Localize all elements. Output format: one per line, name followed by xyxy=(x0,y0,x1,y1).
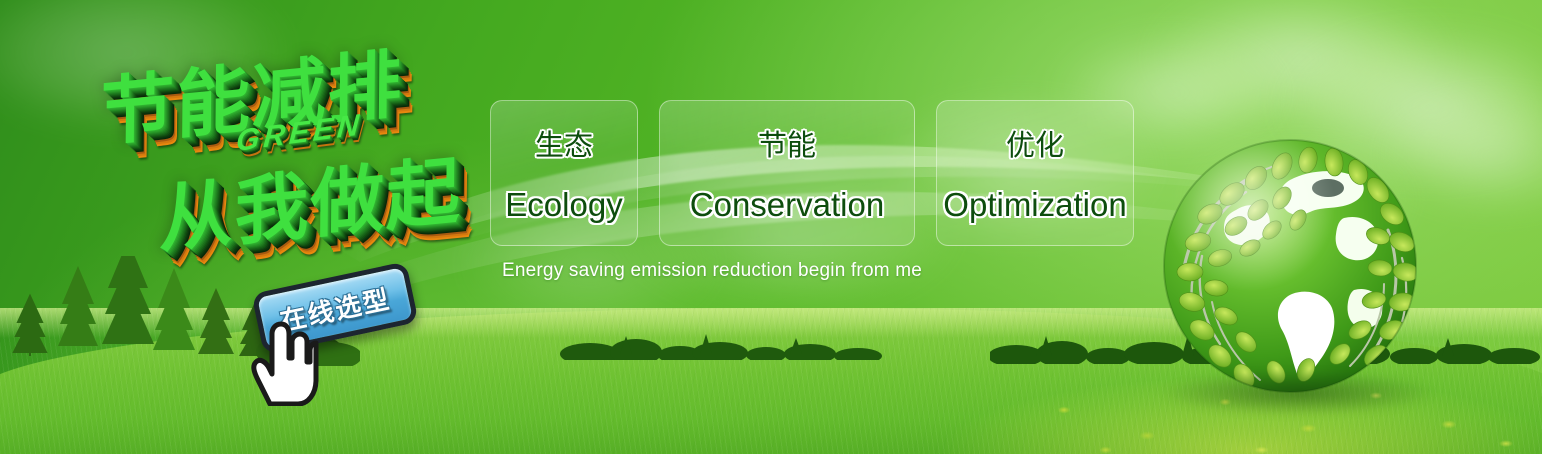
feature-card-conservation[interactable]: 节能 Conservation xyxy=(659,100,915,246)
feature-card-optimization-en: Optimization xyxy=(943,186,1126,224)
feature-card-optimization[interactable]: 优化 Optimization xyxy=(936,100,1134,246)
headline-logo: 节能减排 GREEN 从我做起 xyxy=(85,8,527,297)
tagline: Energy saving emission reduction begin f… xyxy=(502,260,922,282)
leafy-green-globe-icon xyxy=(1140,118,1450,428)
feature-card-conservation-cn: 节能 xyxy=(758,122,816,164)
logo-line2: 从我做起 xyxy=(159,131,463,268)
feature-card-ecology-cn: 生态 xyxy=(535,122,593,164)
feature-card-conservation-en: Conservation xyxy=(690,186,884,224)
feature-card-list: 生态 Ecology 节能 Conservation 优化 Optimizati… xyxy=(490,100,1134,246)
globe-shadow xyxy=(1158,370,1438,416)
online-selection-button-label: 在线选型 xyxy=(276,278,393,337)
feature-card-ecology[interactable]: 生态 Ecology xyxy=(490,100,638,246)
feature-card-optimization-cn: 优化 xyxy=(1006,122,1064,164)
feature-card-ecology-en: Ecology xyxy=(505,186,622,224)
green-energy-banner: 节能减排 GREEN 从我做起 在线选型 生态 Ecology 节能 Conse… xyxy=(0,0,1542,454)
